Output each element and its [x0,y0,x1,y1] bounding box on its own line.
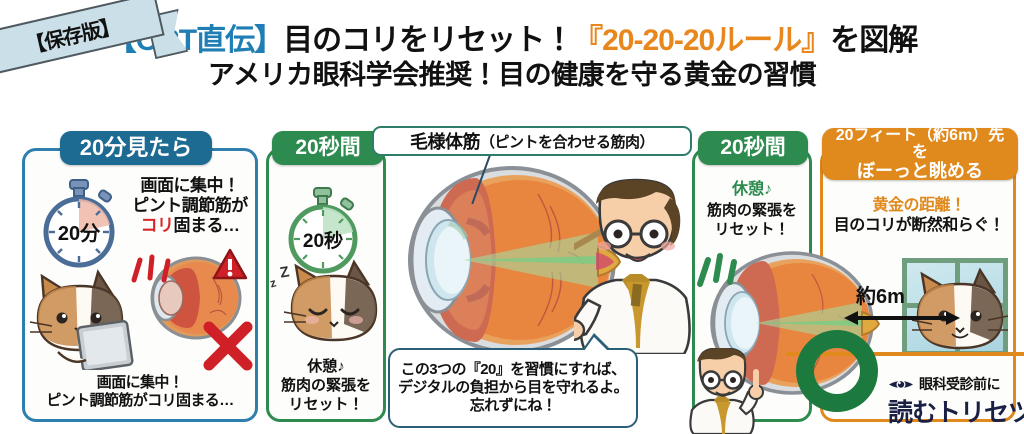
badge-step1: 20分見たら [60,131,212,165]
panel1-text: 画面に集中！ ピント調節筋が コリ固まる… [126,176,254,236]
impact-lines-red-icon [128,254,174,288]
eye-icon [888,377,914,392]
bubble-line2: デジタルの負担から目を守れるよ。 [398,379,628,397]
panel1-text-katamaru: 固まる… [174,216,240,235]
title-part-rule: 『20-20-20ルール』 [573,24,830,57]
panel4-text: 黄金の距離！ 目のコリが断然和らぐ！ [824,196,1014,236]
badge-step2: 20秒間 [272,131,384,165]
panel1-caption-line1: 画面に集中！ [28,374,252,392]
badge-step4: 20フィート（約6m）先を ぼーっと眺める [822,128,1018,180]
bubble-line1: この3つの『20』を習慣にすれば、 [401,361,626,379]
panel1-text-line3: コリ固まる… [126,216,254,236]
panel2-caption-line2: 筋肉の緊張を [268,377,384,396]
panel2-caption-line1: 休憩♪ [268,358,384,377]
logo-subtitle: 眼科受診前に [919,374,1000,394]
brand-logo: 眼科受診前に 読むトリセツ [888,374,1024,429]
logo-row-top: 眼科受診前に [888,374,1024,394]
panel1-text-line1: 画面に集中！ [126,176,254,196]
panel1-caption-line2: ピント調節筋がコリ固まる… [28,392,252,410]
warning-triangle-icon [212,248,248,281]
stopwatch-20min-label: 20分 [58,222,101,245]
label-ciliary-muscle-main: 毛様体筋 [410,128,480,154]
title-part-zukai: を図解 [830,24,917,57]
badge-step4-line2: ぼーっと眺める [857,162,983,182]
page-subtitle: アメリカ眼科学会推奨！目の健康を守る黄金の習慣 [0,60,1024,91]
circle-ok-mark-icon [796,330,878,412]
label-ciliary-muscle-sub: （ピントを合わせる筋肉） [480,131,654,152]
panel1-caption: 画面に集中！ ピント調節筋がコリ固まる… [28,374,252,409]
panel4-text-line1: 黄金の距離！ [824,196,1014,216]
badge-step4-line1: 20フィート（約6m）先を [830,127,1010,162]
infographic-canvas: 【保存版】 【ORT直伝】目のコリをリセット！『20-20-20ルール』を図解 … [0,0,1024,434]
doctor-character-illustration [574,178,700,354]
panel3-text-line3: リセット！ [694,220,810,240]
panel2-caption-line3: リセット！ [268,396,384,415]
doctor-speech-bubble: この3つの『20』を習慣にすれば、 デジタルの負担から目を守れるよ。 忘れずにね… [388,348,638,428]
bubble-line3: 忘れずにね！ [470,397,556,415]
logo-title: 読むトリセツ [888,393,1024,429]
panel3-text: 休憩♪ 筋肉の緊張を リセット！ [694,180,810,240]
panel2-caption: 休憩♪ 筋肉の緊張を リセット！ [268,358,384,414]
panel3-text-line2: 筋肉の緊張を [694,201,810,221]
sleeping-cat-illustration [284,258,384,354]
impact-lines-green-icon [694,252,738,292]
label-ciliary-muscle: 毛様体筋（ピントを合わせる筋肉） [372,126,692,156]
panel1-text-kori: コリ [141,216,174,235]
title-part-reset: 目のコリをリセット！ [283,24,573,57]
distance-label: 約6m [856,280,905,309]
doctor-small-illustration [686,348,766,434]
panel4-text-line2: 目のコリが断然和らぐ！ [824,216,1014,236]
distance-arrow-icon [842,308,962,328]
panel1-text-line2: ピント調節筋が [126,196,254,216]
badge-step3: 20秒間 [698,131,808,165]
cat-with-tablet-illustration [28,266,144,370]
stopwatch-20min-icon: 20分 [36,178,124,268]
x-mark-icon [200,318,256,374]
panel3-text-line1: 休憩♪ [694,180,810,201]
stopwatch-20sec-label: 20秒 [303,229,343,252]
